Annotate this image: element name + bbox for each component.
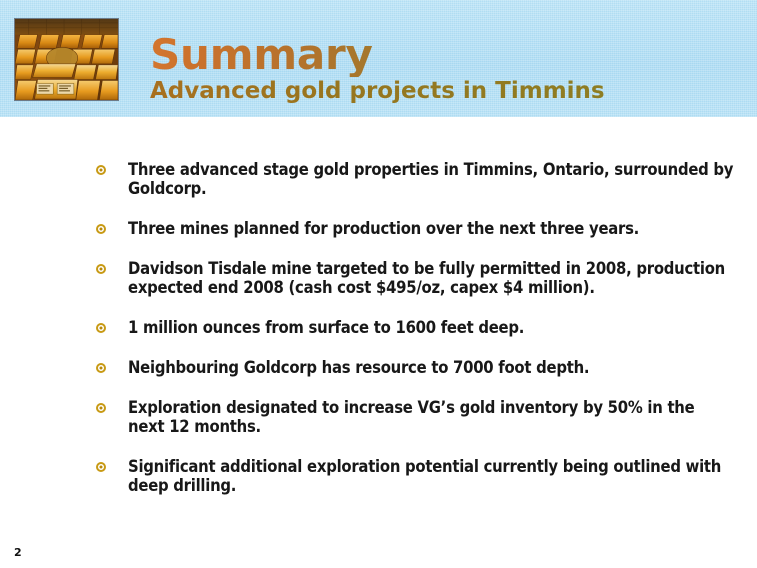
ring-bullet-icon — [96, 398, 128, 413]
ring-bullet-icon — [96, 259, 128, 274]
ring-bullet-icon — [96, 457, 128, 472]
bullet-list: Three advanced stage gold properties in … — [96, 160, 736, 495]
ring-bullet-icon — [96, 318, 128, 333]
list-item: Neighbouring Goldcorp has resource to 70… — [96, 358, 736, 377]
list-item-text: Three advanced stage gold properties in … — [128, 160, 734, 198]
page-number: 2 — [14, 546, 22, 559]
ring-bullet-icon — [96, 219, 128, 234]
list-item-text: Davidson Tisdale mine targeted to be ful… — [128, 259, 734, 297]
list-item-text: Three mines planned for production over … — [128, 219, 734, 238]
page-subtitle: Advanced gold projects in Timmins — [150, 78, 605, 104]
list-item-text: 1 million ounces from surface to 1600 fe… — [128, 318, 734, 337]
page-title: Summary — [150, 33, 605, 77]
list-item-text: Neighbouring Goldcorp has resource to 70… — [128, 358, 734, 377]
ring-bullet-icon — [96, 160, 128, 175]
ring-bullet-icon — [96, 358, 128, 373]
slide-canvas: Summary Advanced gold projects in Timmin… — [0, 0, 757, 568]
list-item: Davidson Tisdale mine targeted to be ful… — [96, 259, 736, 297]
list-item: Three advanced stage gold properties in … — [96, 160, 736, 198]
list-item-text: Significant additional exploration poten… — [128, 457, 734, 495]
list-item: Three mines planned for production over … — [96, 219, 736, 238]
list-item: 1 million ounces from surface to 1600 fe… — [96, 318, 736, 337]
title-block: Summary Advanced gold projects in Timmin… — [150, 33, 605, 104]
gold-bars-photo — [14, 18, 119, 101]
list-item-text: Exploration designated to increase VG’s … — [128, 398, 734, 436]
list-item: Significant additional exploration poten… — [96, 457, 736, 495]
list-item: Exploration designated to increase VG’s … — [96, 398, 736, 436]
